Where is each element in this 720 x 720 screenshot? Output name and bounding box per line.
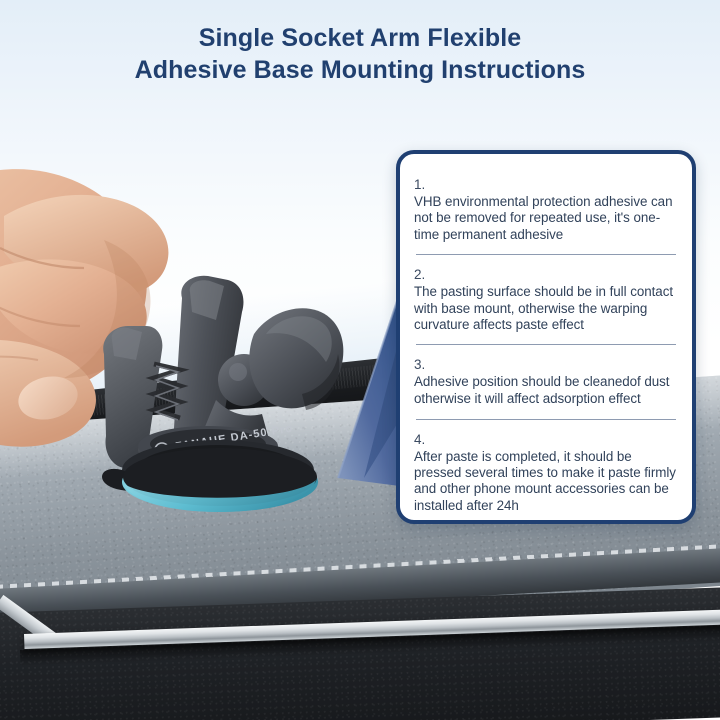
instruction-item: 1. VHB environmental protection adhesive… (414, 164, 678, 245)
instruction-text: Adhesive position should be cleanedof du… (414, 374, 678, 407)
instruction-number: 3. (414, 356, 678, 373)
instruction-graphic: FANAUE DA-50 Pro Single Socket Arm Flexi… (0, 0, 720, 720)
page-title: Single Socket Arm Flexible Adhesive Base… (0, 22, 720, 86)
instructions-panel: 1. VHB environmental protection adhesive… (396, 150, 696, 524)
title-line-1: Single Socket Arm Flexible (0, 22, 720, 54)
instruction-number: 2. (414, 266, 678, 283)
instruction-item: 4. After paste is completed, it should b… (414, 427, 678, 517)
instruction-text: After paste is completed, it should be p… (414, 449, 678, 515)
instruction-separator (416, 344, 676, 345)
instruction-item: 3. Adhesive position should be cleanedof… (414, 352, 678, 409)
title-line-2: Adhesive Base Mounting Instructions (0, 54, 720, 86)
instruction-number: 1. (414, 176, 678, 193)
instruction-item: 2. The pasting surface should be in full… (414, 262, 678, 335)
instruction-number: 4. (414, 431, 678, 448)
instruction-text: The pasting surface should be in full co… (414, 284, 678, 333)
instruction-text: VHB environmental protection adhesive ca… (414, 194, 678, 243)
instruction-separator (416, 254, 676, 255)
instruction-separator (416, 419, 676, 420)
